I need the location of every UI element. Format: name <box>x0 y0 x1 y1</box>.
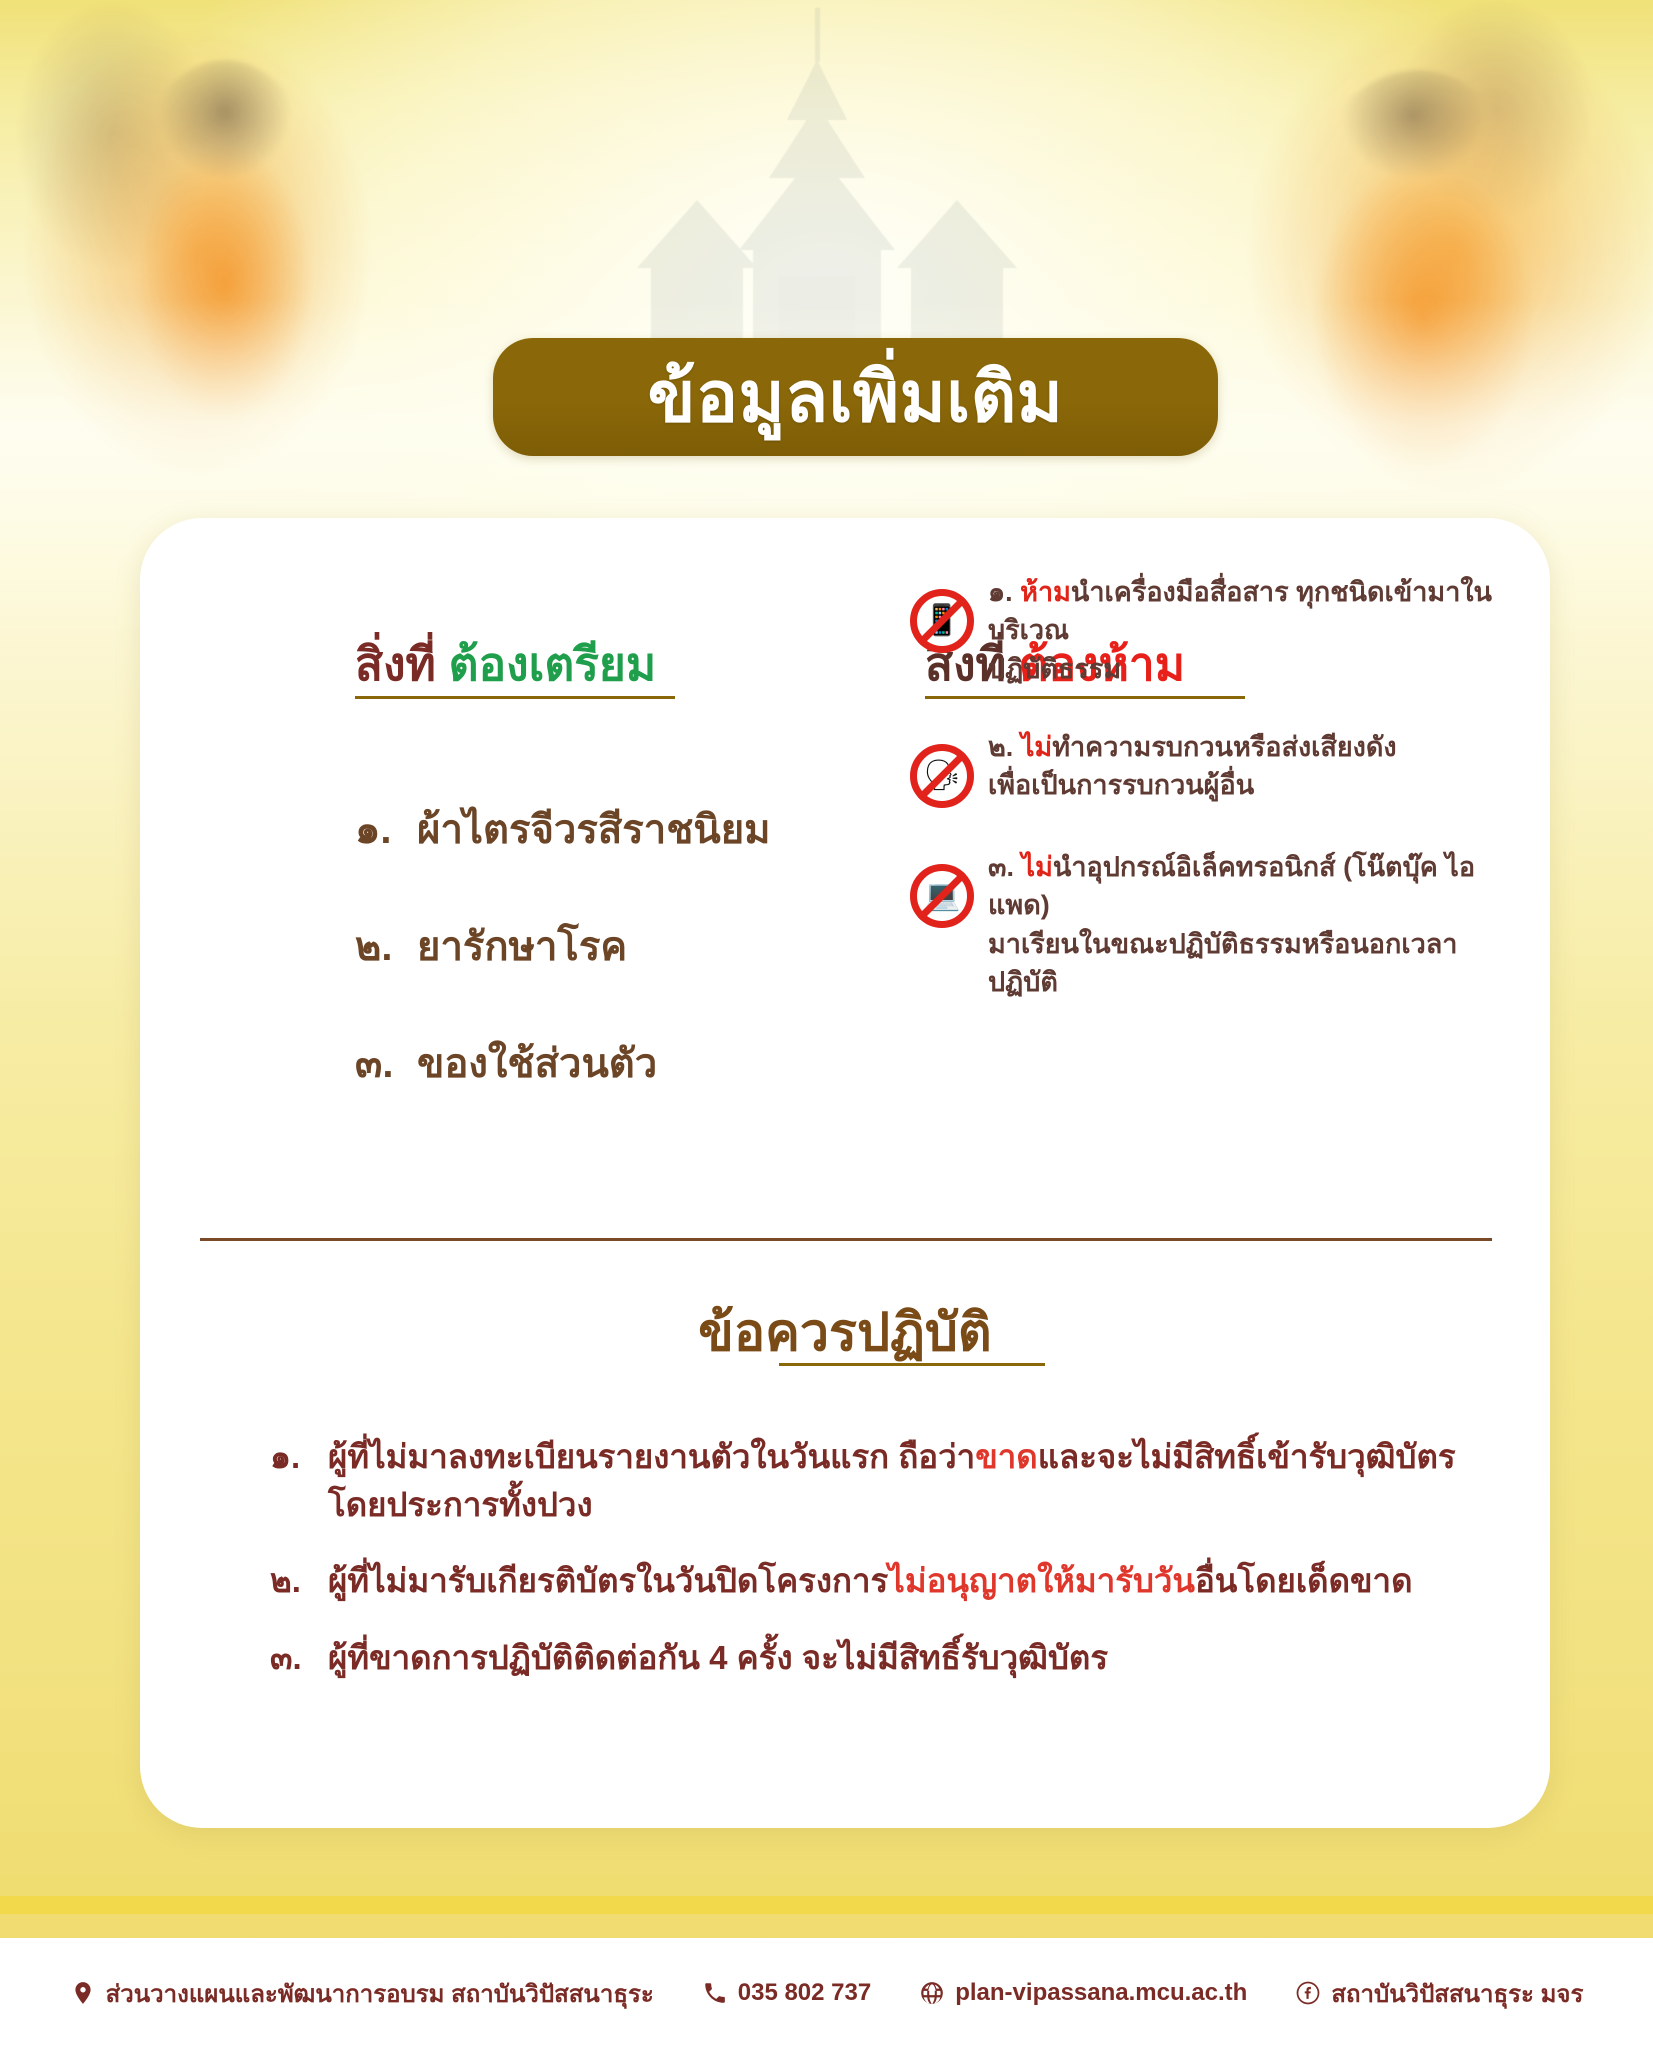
list-item: 💻 ๓. ไม่นำอุปกรณ์อิเล็คทรอนิกส์ (โน๊ตบุ๊… <box>910 848 1520 1001</box>
item-number: ๒. <box>988 732 1013 762</box>
text-part: และจะไม่มีสิทธิ์เข้ารับวุฒิบัตร <box>1038 1438 1456 1475</box>
footer-website-text: plan-vipassana.mcu.ac.th <box>955 1979 1247 2007</box>
rule-line2: มาเรียนในขณะปฏิบัติธรรมหรือนอกเวลาปฏิบัต… <box>988 929 1457 997</box>
item-body: ผู้ที่ขาดการปฏิบัติติดต่อกัน 4 ครั้ง จะไ… <box>328 1634 1108 1682</box>
title-banner: ข้อมูลเพิ่มเติม <box>493 338 1218 456</box>
item-number: ๒. <box>355 925 417 970</box>
practice-heading-underline <box>779 1363 1045 1366</box>
rule-line1: ทำความรบกวนหรือส่งเสียงดัง <box>1052 732 1396 762</box>
rule-text: ๓. ไม่นำอุปกรณ์อิเล็คทรอนิกส์ (โน๊ตบุ๊ค … <box>988 848 1520 1001</box>
text-part: โดยประการทั้งปวง <box>328 1486 593 1523</box>
facebook-icon <box>1295 1980 1321 2006</box>
list-item: ๑. ผู้ที่ไม่มาลงทะเบียนรายงานตัวในวันแรก… <box>270 1433 1500 1529</box>
no-loud-noise-icon: 🗣 <box>910 744 974 808</box>
rule-text: ๒. ไม่ทำความรบกวนหรือส่งเสียงดัง เพื่อเป… <box>988 728 1397 805</box>
phone-icon <box>702 1980 728 2006</box>
item-label: ผ้าไตรจีวรสีราชนิยม <box>417 808 771 853</box>
text-part-accent: ขาด <box>975 1438 1038 1475</box>
footer-website[interactable]: plan-vipassana.mcu.ac.th <box>919 1979 1247 2007</box>
item-number: ๓. <box>270 1634 328 1682</box>
footer: ส่วนวางแผนและพัฒนาการอบรม สถาบันวิปัสสนา… <box>0 1938 1653 2048</box>
prepare-heading-accent: ต้องเตรียม <box>449 638 657 690</box>
text-part: ผู้ที่ไม่มารับเกียรติบัตรในวันปิดโครงการ <box>328 1562 888 1599</box>
globe-icon <box>919 1980 945 2006</box>
text-part-accent: ไม่อนุญาตให้มารับวัน <box>888 1562 1195 1599</box>
prepare-list: ๑. ผ้าไตรจีวรสีราชนิยม ๒. ยารักษาโรค ๓. … <box>355 808 915 1158</box>
practice-list: ๑. ผู้ที่ไม่มาลงทะเบียนรายงานตัวในวันแรก… <box>270 1433 1500 1710</box>
text-part: ผู้ที่ไม่มาลงทะเบียนรายงานตัวในวันแรก ถื… <box>328 1438 975 1475</box>
text-part: ผู้ที่ขาดการปฏิบัติติดต่อกัน 4 ครั้ง จะไ… <box>328 1639 1108 1676</box>
prepare-heading-underline <box>355 696 675 699</box>
list-item: ๓. ของใช้ส่วนตัว <box>355 1042 915 1087</box>
list-item: ๑. ผ้าไตรจีวรสีราชนิยม <box>355 808 915 853</box>
footer-address: ส่วนวางแผนและพัฒนาการอบรม สถาบันวิปัสสนา… <box>70 1974 654 2013</box>
forbidden-list: 📱 ๑. ห้ามนำเครื่องมือสื่อสาร ทุกชนิดเข้า… <box>910 573 1520 1041</box>
footer-accent-band <box>0 1896 1653 1914</box>
section-divider <box>200 1238 1492 1241</box>
footer-facebook[interactable]: สถาบันวิปัสสนาธุระ มจร <box>1295 1974 1583 2013</box>
rule-line2: ปฏิบัติธรรม <box>988 654 1121 684</box>
list-item: ๒. ผู้ที่ไม่มารับเกียรติบัตรในวันปิดโครง… <box>270 1557 1500 1605</box>
no-mobile-phone-icon: 📱 <box>910 589 974 653</box>
page-title: ข้อมูลเพิ่มเติม <box>648 362 1064 432</box>
content-card: สิ่งที่ ต้องเตรียม สิ่งที่ ต้องห้าม ๑. ผ… <box>140 518 1550 1828</box>
item-number: ๓. <box>355 1042 417 1087</box>
practice-heading: ข้อควรปฏิบัติ <box>140 1290 1550 1373</box>
item-number: ๑. <box>988 577 1013 607</box>
footer-phone[interactable]: 035 802 737 <box>702 1979 871 2007</box>
footer-address-text: ส่วนวางแผนและพัฒนาการอบรม สถาบันวิปัสสนา… <box>106 1974 654 2013</box>
item-body: ผู้ที่ไม่มาลงทะเบียนรายงานตัวในวันแรก ถื… <box>328 1433 1456 1529</box>
item-body: ผู้ที่ไม่มารับเกียรติบัตรในวันปิดโครงการ… <box>328 1557 1413 1605</box>
item-number: ๓. <box>988 852 1014 882</box>
rule-text: ๑. ห้ามนำเครื่องมือสื่อสาร ทุกชนิดเข้ามา… <box>988 573 1520 688</box>
item-number: ๒. <box>270 1557 328 1605</box>
rule-line2: เพื่อเป็นการรบกวนผู้อื่น <box>988 770 1254 800</box>
list-item: 📱 ๑. ห้ามนำเครื่องมือสื่อสาร ทุกชนิดเข้า… <box>910 573 1520 688</box>
list-item: ๒. ยารักษาโรค <box>355 925 915 970</box>
item-number: ๑. <box>355 808 417 853</box>
map-pin-icon <box>70 1980 96 2006</box>
no-laptop-icon: 💻 <box>910 864 974 928</box>
list-item: 🗣 ๒. ไม่ทำความรบกวนหรือส่งเสียงดัง เพื่อ… <box>910 728 1520 808</box>
prepare-heading: สิ่งที่ ต้องเตรียม <box>355 628 656 701</box>
prepare-heading-plain: สิ่งที่ <box>355 638 436 690</box>
item-number: ๑. <box>270 1433 328 1481</box>
footer-facebook-text: สถาบันวิปัสสนาธุระ มจร <box>1331 1974 1583 2013</box>
rule-accent: ไม่ <box>1021 852 1052 882</box>
footer-phone-text: 035 802 737 <box>738 1979 871 2007</box>
rule-accent: ไม่ <box>1021 732 1052 762</box>
rule-accent: ห้าม <box>1020 577 1071 607</box>
text-part: อื่นโดยเด็ดขาด <box>1195 1562 1413 1599</box>
list-item: ๓. ผู้ที่ขาดการปฏิบัติติดต่อกัน 4 ครั้ง … <box>270 1634 1500 1682</box>
item-label: ของใช้ส่วนตัว <box>417 1042 657 1087</box>
item-label: ยารักษาโรค <box>417 925 627 970</box>
rule-line1: นำอุปกรณ์อิเล็คทรอนิกส์ (โน๊ตบุ๊ค ไอแพด) <box>988 852 1475 920</box>
